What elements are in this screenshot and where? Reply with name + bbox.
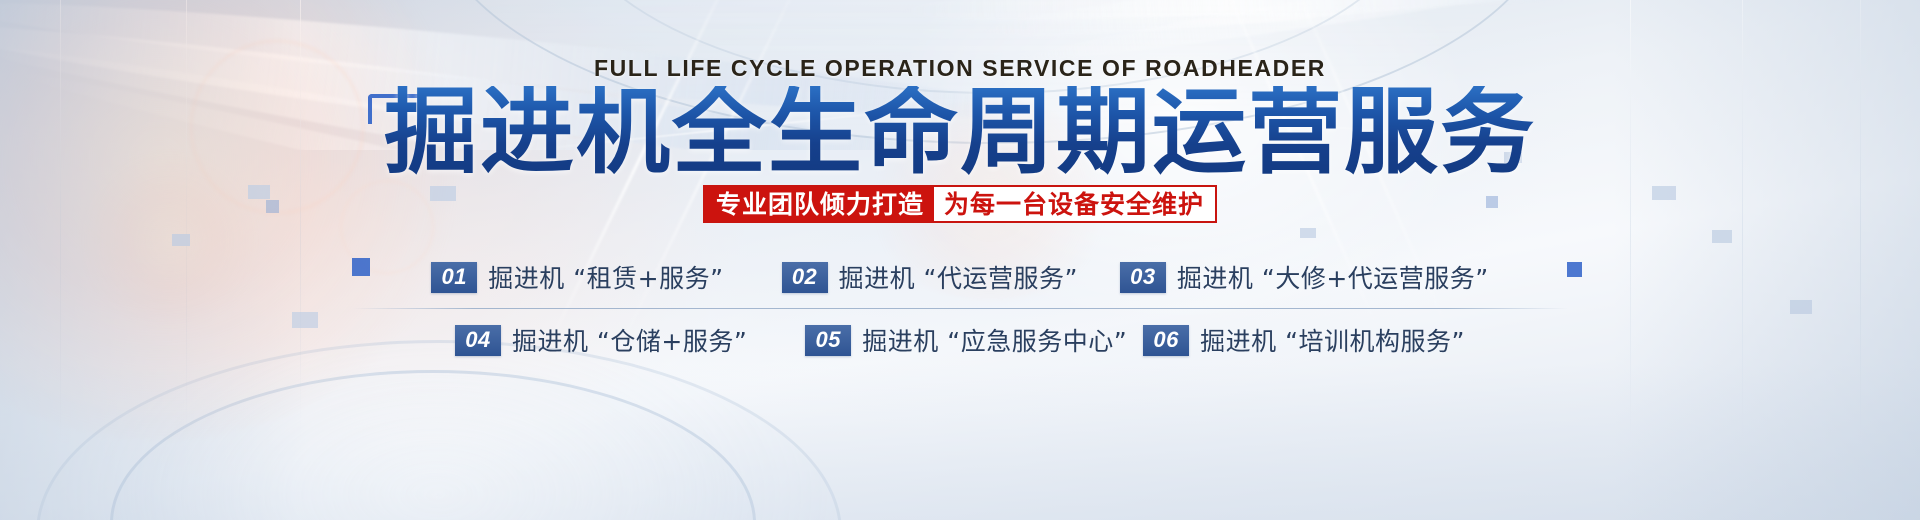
- service-number-badge: 04: [455, 325, 501, 356]
- service-label: 掘进机 “仓储+服务”: [512, 322, 747, 358]
- service-number-badge: 05: [805, 325, 851, 356]
- service-item-03[interactable]: 03 掘进机 “大修+代运营服务”: [1120, 259, 1489, 295]
- service-item-05[interactable]: 05 掘进机 “应急服务中心”: [805, 322, 1127, 358]
- service-item-06[interactable]: 06 掘进机 “培训机构服务”: [1143, 322, 1465, 358]
- slogan-right: 为每一台设备安全维护: [934, 187, 1215, 221]
- banner-content: FULL LIFE CYCLE OPERATION SERVICE OF ROA…: [0, 0, 1920, 520]
- service-row-bottom: 04 掘进机 “仓储+服务” 05 掘进机 “应急服务中心” 06 掘进机 “培…: [0, 309, 1920, 371]
- slogan-left: 专业团队倾力打造: [705, 187, 934, 221]
- service-label: 掘进机 “应急服务中心”: [862, 322, 1127, 358]
- service-number-badge: 06: [1143, 325, 1189, 356]
- service-number-badge: 01: [431, 262, 477, 293]
- main-headline: 掘进机全生命周期运营服务: [0, 86, 1920, 180]
- service-number-badge: 02: [782, 262, 828, 293]
- service-item-02[interactable]: 02 掘进机 “代运营服务”: [782, 259, 1078, 295]
- service-list: 01 掘进机 “租赁+服务” 02 掘进机 “代运营服务” 03 掘进机 “大修…: [0, 246, 1920, 371]
- red-slogan-band: 专业团队倾力打造 为每一台设备安全维护: [0, 185, 1920, 223]
- service-row-top: 01 掘进机 “租赁+服务” 02 掘进机 “代运营服务” 03 掘进机 “大修…: [0, 246, 1920, 308]
- service-label: 掘进机 “大修+代运营服务”: [1177, 259, 1489, 295]
- promo-banner: FULL LIFE CYCLE OPERATION SERVICE OF ROA…: [0, 0, 1920, 520]
- service-label: 掘进机 “代运营服务”: [839, 259, 1078, 295]
- service-item-04[interactable]: 04 掘进机 “仓储+服务”: [455, 322, 747, 358]
- service-label: 掘进机 “培训机构服务”: [1200, 322, 1465, 358]
- service-label: 掘进机 “租赁+服务”: [488, 259, 723, 295]
- service-item-01[interactable]: 01 掘进机 “租赁+服务”: [431, 259, 723, 295]
- service-number-badge: 03: [1120, 262, 1166, 293]
